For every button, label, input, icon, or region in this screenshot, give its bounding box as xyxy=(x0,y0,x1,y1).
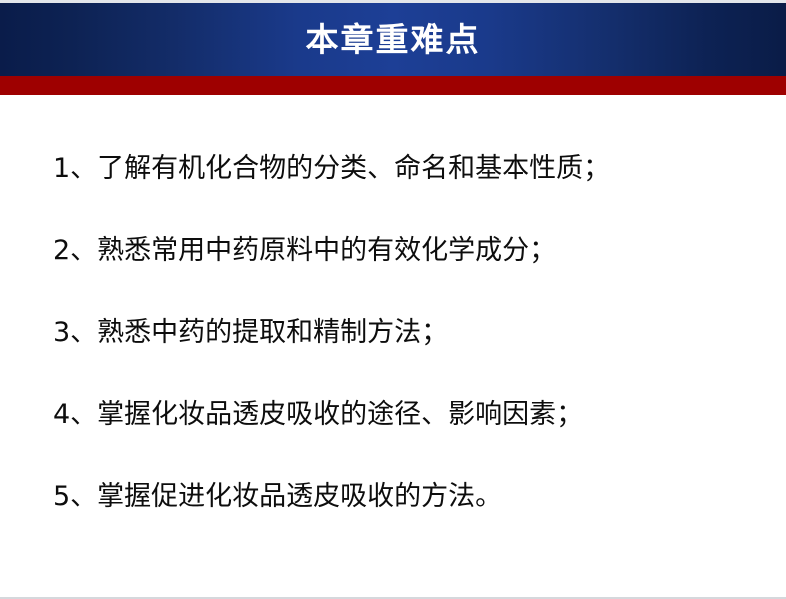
slide-content-area: 1、了解有机化合物的分类、命名和基本性质； 2、熟悉常用中药原料中的有效化学成分… xyxy=(0,95,786,598)
header-accent-band xyxy=(0,76,786,95)
list-item: 1、了解有机化合物的分类、命名和基本性质； xyxy=(53,128,753,210)
list-item: 5、掌握促进化妆品透皮吸收的方法。 xyxy=(53,456,753,538)
objectives-list: 1、了解有机化合物的分类、命名和基本性质； 2、熟悉常用中药原料中的有效化学成分… xyxy=(53,128,753,538)
list-item: 4、掌握化妆品透皮吸收的途径、影响因素； xyxy=(53,374,753,456)
presentation-slide: 本章重难点 1、了解有机化合物的分类、命名和基本性质； 2、熟悉常用中药原料中的… xyxy=(0,0,786,599)
slide-title: 本章重难点 xyxy=(0,3,786,76)
list-item: 3、熟悉中药的提取和精制方法； xyxy=(53,292,753,374)
list-item: 2、熟悉常用中药原料中的有效化学成分； xyxy=(53,210,753,292)
